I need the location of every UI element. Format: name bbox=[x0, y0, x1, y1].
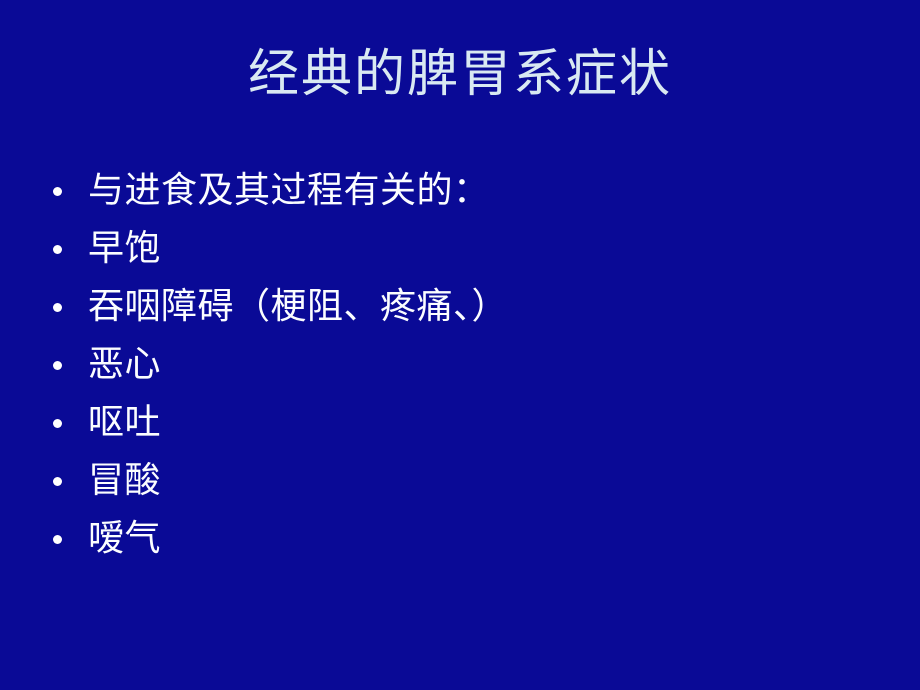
bullet-point-icon bbox=[53, 245, 62, 254]
bullet-list: 与进食及其过程有关的： 早饱 吞咽障碍（梗阻、疼痛、） 恶心 呕吐 冒酸 嗳气 bbox=[0, 162, 920, 568]
list-item: 与进食及其过程有关的： bbox=[0, 162, 920, 220]
list-item: 早饱 bbox=[0, 220, 920, 278]
list-item: 冒酸 bbox=[0, 452, 920, 510]
list-item-label: 呕吐 bbox=[88, 403, 161, 443]
list-item: 呕吐 bbox=[0, 394, 920, 452]
presentation-slide: 经典的脾胃系症状 与进食及其过程有关的： 早饱 吞咽障碍（梗阻、疼痛、） 恶心 … bbox=[0, 0, 920, 690]
list-item: 恶心 bbox=[0, 336, 920, 394]
slide-title: 经典的脾胃系症状 bbox=[0, 45, 920, 105]
list-item: 吞咽障碍（梗阻、疼痛、） bbox=[0, 278, 920, 336]
bullet-point-icon bbox=[53, 535, 62, 544]
bullet-point-icon bbox=[53, 361, 62, 370]
bullet-point-icon bbox=[53, 303, 62, 312]
list-item-label: 吞咽障碍（梗阻、疼痛、） bbox=[88, 287, 508, 327]
bullet-point-icon bbox=[53, 187, 62, 196]
list-item-label: 早饱 bbox=[88, 229, 161, 269]
list-item-label: 与进食及其过程有关的： bbox=[88, 171, 490, 211]
list-item-label: 嗳气 bbox=[88, 519, 161, 559]
bullet-point-icon bbox=[53, 419, 62, 428]
bullet-point-icon bbox=[53, 477, 62, 486]
list-item: 嗳气 bbox=[0, 510, 920, 568]
list-item-label: 恶心 bbox=[88, 345, 161, 385]
list-item-label: 冒酸 bbox=[88, 461, 161, 501]
